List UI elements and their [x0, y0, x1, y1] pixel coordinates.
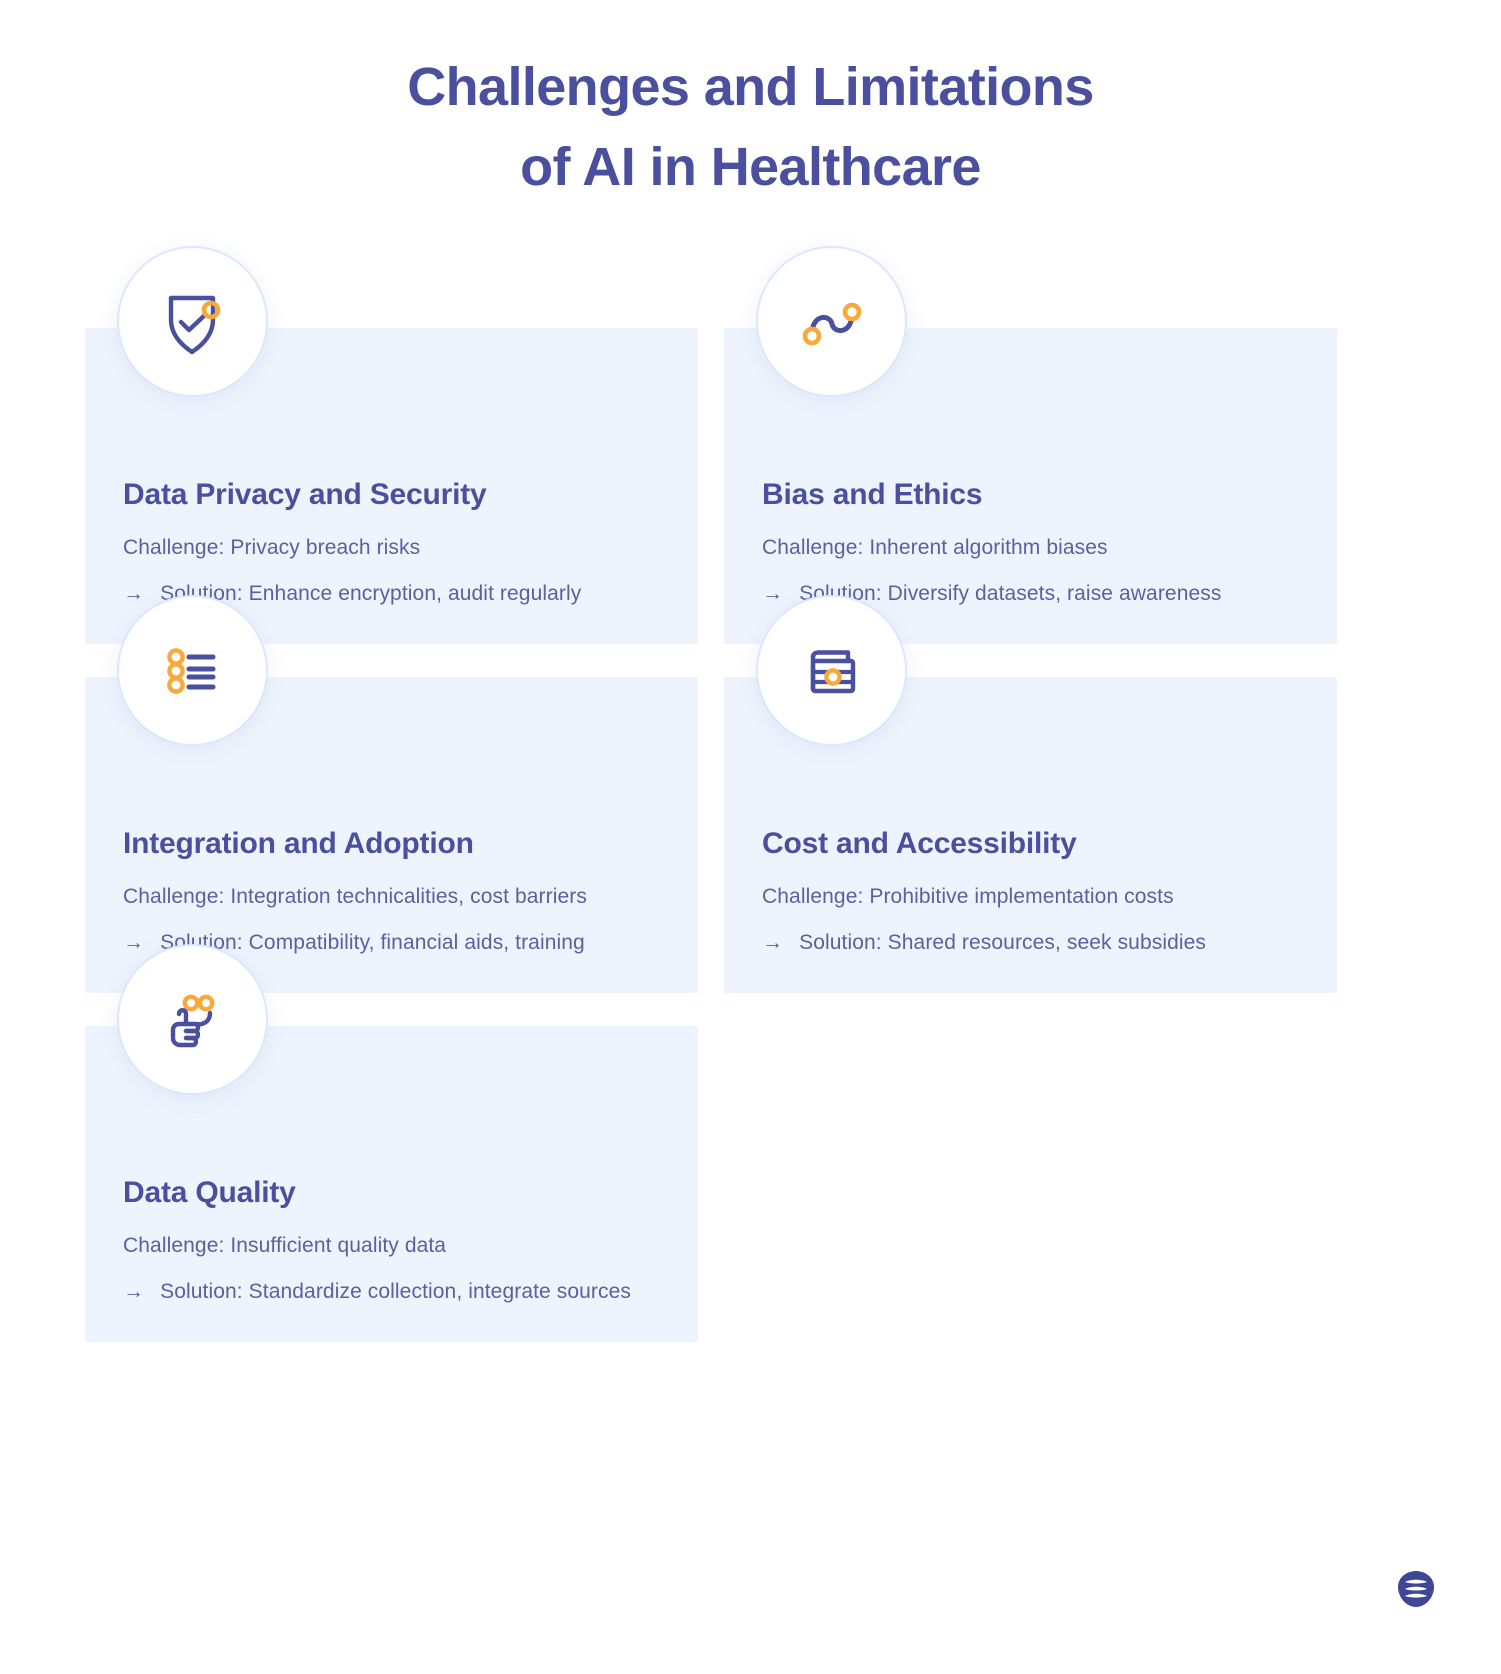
s-curve-nodes-icon — [792, 282, 872, 362]
icon-badge — [117, 944, 268, 1095]
card-solution-text: Solution: Standardize collection, integr… — [160, 1280, 631, 1304]
card-title: Cost and Accessibility — [762, 827, 1299, 861]
cards-row-2: Integration and Adoption Challenge: Inte… — [85, 677, 1416, 993]
page-title-line-2: of AI in Healthcare — [0, 128, 1501, 208]
card-solution: → Solution: Shared resources, seek subsi… — [762, 931, 1299, 955]
icon-badge — [756, 595, 907, 746]
thumbs-up-smiley-icon — [153, 980, 233, 1060]
cards-row-1: Data Privacy and Security Challenge: Pri… — [85, 328, 1416, 644]
page-title-line-1: Challenges and Limitations — [0, 48, 1501, 128]
cards-grid: Data Privacy and Security Challenge: Pri… — [85, 328, 1416, 1375]
shield-check-icon — [153, 282, 233, 362]
card-challenge: Challenge: Prohibitive implementation co… — [762, 885, 1299, 909]
card-challenge: Challenge: Privacy breach risks — [123, 536, 660, 560]
card-title: Data Quality — [123, 1176, 660, 1210]
bullet-list-icon — [153, 631, 233, 711]
wallet-icon — [792, 631, 872, 711]
icon-badge — [117, 246, 268, 397]
card-challenge: Challenge: Integration technicalities, c… — [123, 885, 660, 909]
card-solution: → Solution: Standardize collection, inte… — [123, 1280, 660, 1304]
card-solution-text: Solution: Shared resources, seek subsidi… — [799, 931, 1206, 955]
card-title: Bias and Ethics — [762, 478, 1299, 512]
arrow-right-icon: → — [123, 932, 144, 953]
infographic-page: Challenges and Limitations of AI in Heal… — [0, 0, 1501, 1674]
arrow-right-icon: → — [762, 583, 783, 604]
arrow-right-icon: → — [123, 1281, 144, 1302]
card-cost-and-accessibility: Cost and Accessibility Challenge: Prohib… — [724, 677, 1337, 993]
card-challenge: Challenge: Inherent algorithm biases — [762, 536, 1299, 560]
card-challenge: Challenge: Insufficient quality data — [123, 1234, 660, 1258]
icon-badge — [117, 595, 268, 746]
card-title: Integration and Adoption — [123, 827, 660, 861]
icon-badge — [756, 246, 907, 397]
page-title: Challenges and Limitations of AI in Heal… — [0, 48, 1501, 208]
arrow-right-icon: → — [762, 932, 783, 953]
card-data-quality: Data Quality Challenge: Insufficient qua… — [85, 1026, 698, 1342]
brand-logo — [1393, 1566, 1439, 1612]
arrow-right-icon: → — [123, 583, 144, 604]
card-title: Data Privacy and Security — [123, 478, 660, 512]
cards-row-3: Data Quality Challenge: Insufficient qua… — [85, 1026, 1416, 1342]
card-placeholder-empty — [724, 1026, 1337, 1342]
